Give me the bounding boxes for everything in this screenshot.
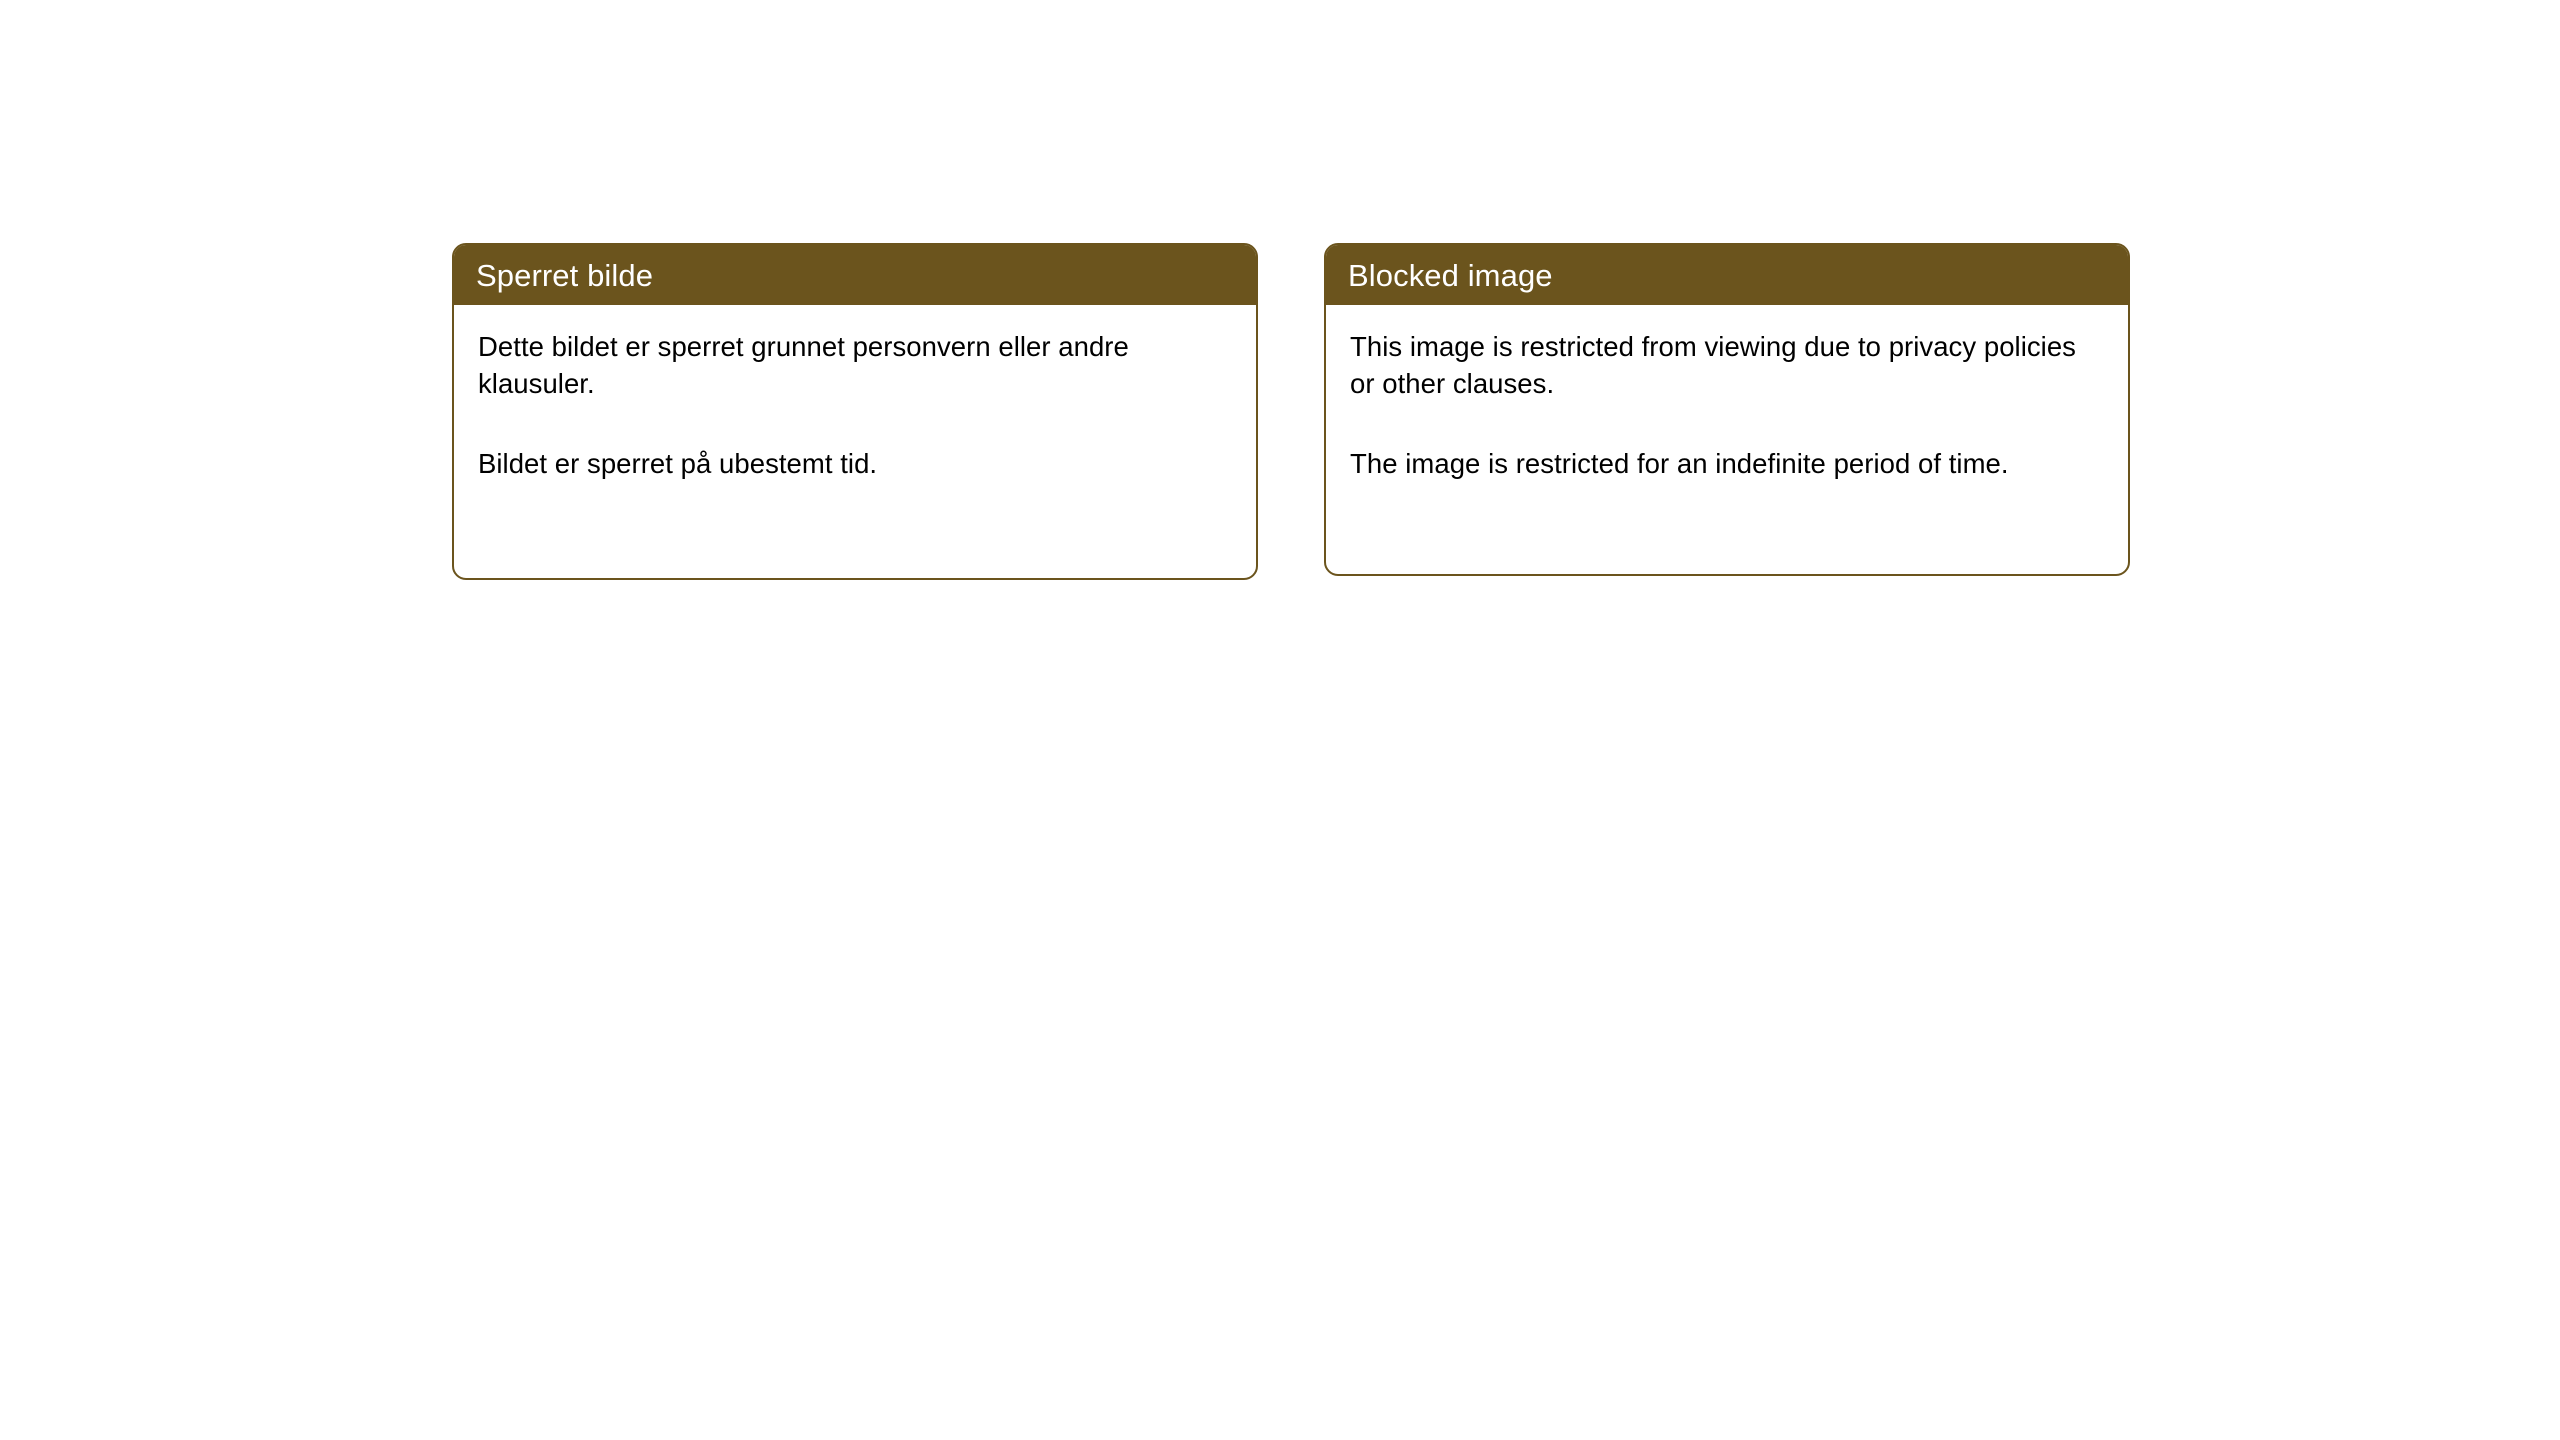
card-header-norwegian: Sperret bilde bbox=[454, 245, 1256, 305]
card-header-english: Blocked image bbox=[1326, 245, 2128, 305]
page-canvas: Sperret bilde Dette bildet er sperret gr… bbox=[0, 0, 2560, 1440]
card-body-english: This image is restricted from viewing du… bbox=[1326, 305, 2128, 483]
card-body-norwegian: Dette bildet er sperret grunnet personve… bbox=[454, 305, 1256, 483]
card-paragraph-duration-norwegian: Bildet er sperret på ubestemt tid. bbox=[478, 446, 1236, 483]
card-title-english: Blocked image bbox=[1348, 260, 1553, 291]
card-title-norwegian: Sperret bilde bbox=[476, 260, 653, 291]
card-paragraph-duration-english: The image is restricted for an indefinit… bbox=[1350, 446, 2108, 483]
card-paragraph-reason-norwegian: Dette bildet er sperret grunnet personve… bbox=[478, 329, 1236, 402]
card-paragraph-reason-english: This image is restricted from viewing du… bbox=[1350, 329, 2108, 402]
blocked-image-notice-card-norwegian: Sperret bilde Dette bildet er sperret gr… bbox=[452, 243, 1258, 580]
blocked-image-notice-card-english: Blocked image This image is restricted f… bbox=[1324, 243, 2130, 576]
